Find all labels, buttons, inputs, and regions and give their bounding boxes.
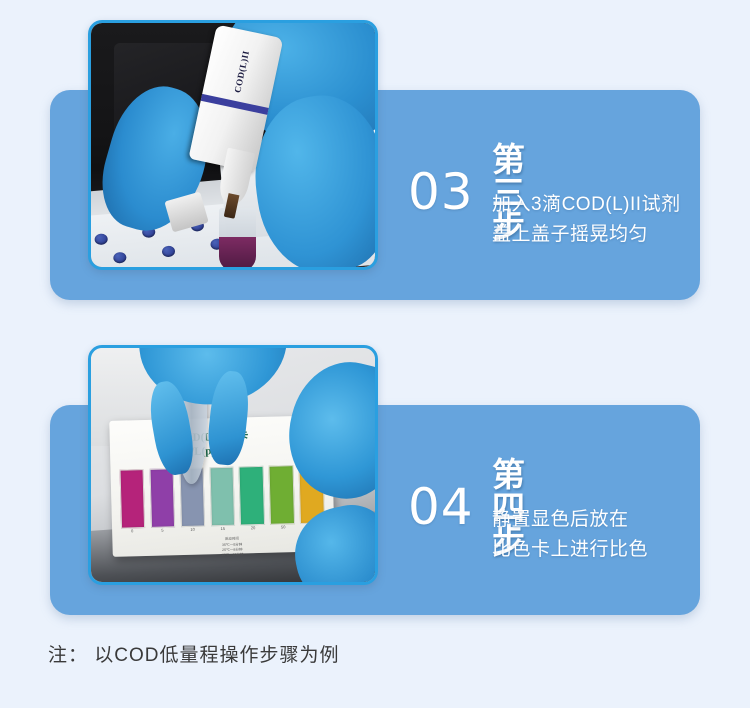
step-desc-line: 静置显色后放在: [492, 505, 648, 535]
bottle-label-text: COD(L)II: [232, 50, 251, 94]
step-desc-line: 比色卡上进行比色: [492, 535, 648, 565]
tube-liquid: [219, 237, 256, 267]
swatch-label: 50: [272, 525, 295, 530]
swatch-label: 0: [121, 529, 144, 534]
color-swatch-row: [119, 464, 324, 526]
color-swatch: [269, 465, 295, 525]
color-swatch: [149, 468, 175, 528]
step-photo-04: COD(L)比色卡 mg/L(ppm) 0 5 10: [88, 345, 378, 585]
step-description-03: 加入3滴COD(L)II试剂 盖上盖子摇晃均匀: [492, 190, 681, 250]
step-desc-line: 加入3滴COD(L)II试剂: [492, 190, 681, 220]
swatch-label: 20: [242, 526, 265, 531]
swatch-label: 10: [181, 527, 204, 532]
sample-tube: [219, 208, 256, 267]
color-swatch: [119, 469, 145, 529]
step-number-04: 04: [408, 482, 474, 532]
bottle-label-band: [201, 94, 269, 115]
color-swatch: [209, 467, 235, 527]
swatch-label: 15: [211, 526, 234, 531]
tray-well: [162, 246, 176, 258]
promo-page: COD(L)II 03 第三步 加入3滴COD(L)II试剂 盖上盖子摇晃均匀 …: [0, 0, 750, 708]
footer-note: 注： 以COD低量程操作步骤为例: [48, 640, 340, 667]
step-photo-03: COD(L)II: [88, 20, 378, 270]
tray-well: [94, 234, 108, 246]
tray-well: [113, 252, 127, 264]
step-number-03: 03: [408, 167, 474, 217]
swatch-label: 5: [151, 528, 174, 533]
step-description-04: 静置显色后放在 比色卡上进行比色: [492, 505, 648, 565]
color-card-footnote: 反应时间 35℃—5分钟 25℃—8分钟 15℃—20分钟: [188, 536, 277, 559]
step-desc-line: 盖上盖子摇晃均匀: [492, 220, 681, 250]
color-swatch: [239, 466, 265, 526]
